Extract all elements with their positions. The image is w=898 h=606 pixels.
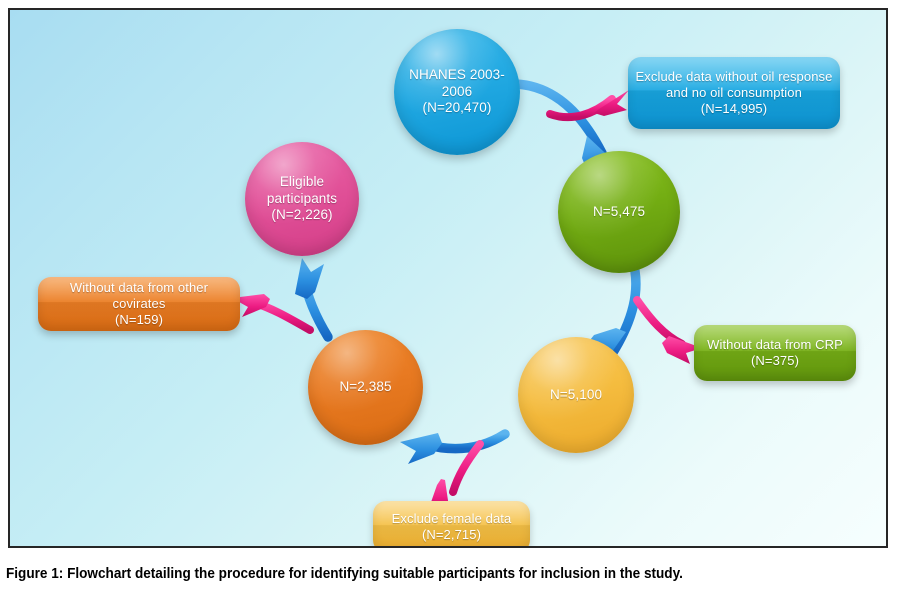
node-exclude-oil-response-label: Exclude data without oil response and no…	[630, 69, 839, 117]
node-exclude-female[interactable]: Exclude female data (N=2,715)	[373, 501, 530, 548]
node-exclude-oil-response[interactable]: Exclude data without oil response and no…	[628, 57, 840, 129]
node-retained-5475-label: N=5,475	[587, 204, 651, 220]
arrow-exclude-n2385-to-covariates-box	[232, 294, 310, 330]
flowchart-canvas-inner: NHANES 2003-2006 (N=20,470) Exclude data…	[10, 10, 886, 546]
node-retained-5100[interactable]: N=5,100	[518, 337, 634, 453]
node-retained-2385[interactable]: N=2,385	[308, 330, 423, 445]
node-exclude-covariates[interactable]: Without data from other covirates (N=159…	[38, 277, 240, 331]
node-exclude-female-label: Exclude female data (N=2,715)	[386, 511, 518, 543]
node-retained-5100-label: N=5,100	[544, 387, 608, 403]
figure-caption: Figure 1: Flowchart detailing the proced…	[6, 566, 830, 582]
node-source-nhanes[interactable]: NHANES 2003-2006 (N=20,470)	[394, 29, 520, 155]
flowchart-canvas: NHANES 2003-2006 (N=20,470) Exclude data…	[8, 8, 888, 548]
node-retained-2385-label: N=2,385	[333, 379, 397, 395]
node-source-nhanes-label: NHANES 2003-2006 (N=20,470)	[394, 67, 520, 116]
figure-root: NHANES 2003-2006 (N=20,470) Exclude data…	[0, 0, 898, 606]
node-exclude-crp[interactable]: Without data from CRP (N=375)	[694, 325, 856, 381]
arrow-exclude-n5475-to-crp-box	[637, 300, 702, 364]
arrow-flow-n5100-to-n2385	[400, 433, 505, 464]
node-exclude-covariates-label: Without data from other covirates (N=159…	[38, 280, 240, 328]
node-eligible-participants-label: Eligible participants (N=2,226)	[245, 174, 359, 223]
node-exclude-crp-label: Without data from CRP (N=375)	[701, 337, 849, 369]
node-retained-5475[interactable]: N=5,475	[558, 151, 680, 273]
node-eligible-participants[interactable]: Eligible participants (N=2,226)	[245, 142, 359, 256]
